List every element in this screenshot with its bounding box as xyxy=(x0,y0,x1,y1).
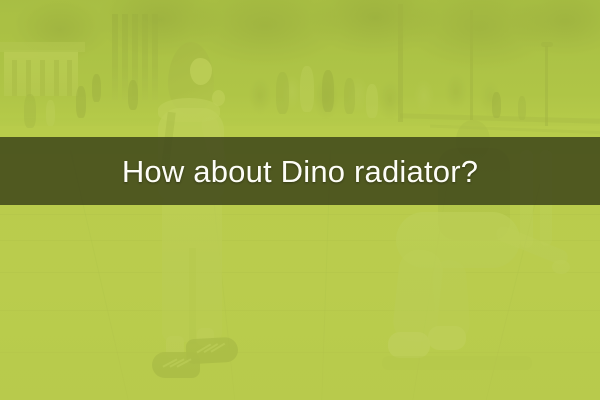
pedestrian xyxy=(300,66,314,112)
pedestrian xyxy=(24,94,36,128)
pedestrian xyxy=(76,86,86,118)
pedestrian xyxy=(322,70,334,112)
sneaker xyxy=(388,332,430,358)
pedestrian xyxy=(518,96,526,120)
caption-banner: How about Dino radiator? xyxy=(0,137,600,205)
leg-gap xyxy=(189,248,196,344)
stone-pavilion xyxy=(4,50,78,96)
hand xyxy=(212,90,225,106)
pedestrian xyxy=(276,72,289,114)
step-edge xyxy=(382,356,532,370)
sneaker xyxy=(428,326,466,350)
standing-woman-figure xyxy=(150,42,258,382)
hand xyxy=(552,260,570,274)
screenshot-canvas: How about Dino radiator? xyxy=(0,0,600,400)
pedestrian xyxy=(128,80,138,110)
lamp-head-icon xyxy=(541,42,553,47)
pedestrian xyxy=(492,92,501,118)
pedestrian xyxy=(46,100,55,126)
pedestrian xyxy=(344,78,355,114)
pedestrian xyxy=(366,84,378,118)
pedestrian xyxy=(92,74,101,102)
sneaker xyxy=(152,352,200,378)
caption-text: How about Dino radiator? xyxy=(122,156,478,187)
